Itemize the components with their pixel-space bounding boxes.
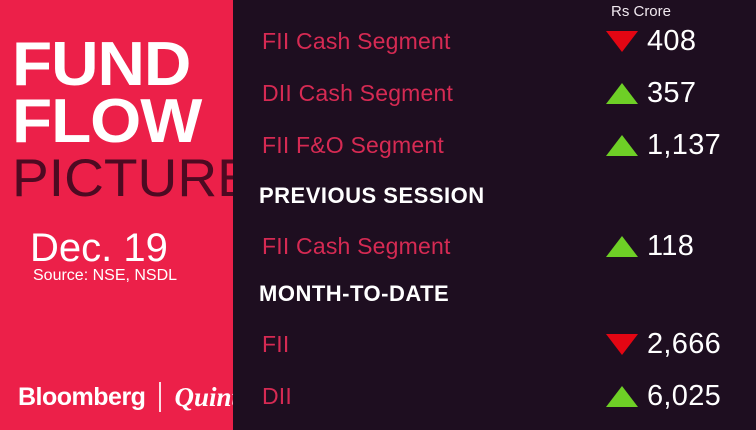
- triangle-up-icon: [606, 83, 638, 104]
- row-label: FII Cash Segment: [262, 233, 451, 260]
- triangle-down-icon: [606, 31, 638, 52]
- logo-divider: [159, 382, 161, 412]
- date-label: Dec. 19: [30, 228, 168, 268]
- row-value: 118: [647, 230, 694, 263]
- source-label: Source: NSE, NSDL: [33, 268, 177, 284]
- row-value: 357: [647, 77, 696, 110]
- row-label: FII: [262, 331, 289, 358]
- logo-bloomberg-text: Bloomberg: [18, 385, 145, 410]
- data-row: FII Cash Segment 408: [233, 15, 756, 67]
- row-value: 6,025: [647, 380, 721, 413]
- brand-panel: FUND FLOW PICTURE Dec. 19 Source: NSE, N…: [0, 0, 233, 430]
- row-value: 2,666: [647, 328, 721, 361]
- row-value: 408: [647, 25, 696, 58]
- headline-line-picture: PICTURE: [12, 152, 233, 205]
- row-label: FII Cash Segment: [262, 28, 451, 55]
- triangle-up-icon: [606, 386, 638, 407]
- row-value: 1,137: [647, 129, 721, 162]
- data-row: DII Cash Segment 357: [233, 67, 756, 119]
- row-label: DII: [262, 383, 292, 410]
- logo-quint-text: Quint: [174, 384, 233, 411]
- headline-line-fund: FUND: [12, 36, 233, 93]
- triangle-up-icon: [606, 135, 638, 156]
- row-label: DII Cash Segment: [262, 80, 453, 107]
- triangle-down-icon: [606, 334, 638, 355]
- section-header-month-to-date: MONTH-TO-DATE: [259, 281, 449, 307]
- triangle-up-icon: [606, 236, 638, 257]
- headline-line-flow: FLOW: [12, 93, 233, 150]
- fund-flow-picture-card: FUND FLOW PICTURE Dec. 19 Source: NSE, N…: [0, 0, 756, 430]
- data-row: FII F&O Segment 1,137: [233, 119, 756, 171]
- section-header-previous-session: PREVIOUS SESSION: [259, 183, 485, 209]
- row-label: FII F&O Segment: [262, 132, 444, 159]
- data-row: FII Cash Segment 118: [233, 220, 756, 272]
- data-row: DII 6,025: [233, 370, 756, 422]
- data-panel: Rs Crore FII Cash Segment 408 DII Cash S…: [233, 0, 756, 430]
- data-row: FII 2,666: [233, 318, 756, 370]
- bloombergquint-logo: Bloomberg Quint: [18, 382, 233, 412]
- headline-block: FUND FLOW PICTURE: [12, 36, 227, 205]
